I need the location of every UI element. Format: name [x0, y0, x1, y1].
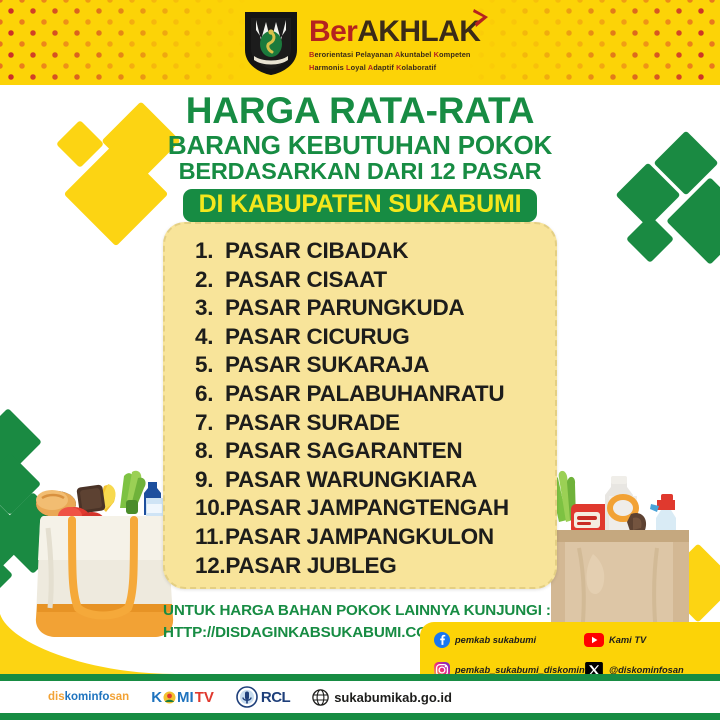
rcl-microphone-icon	[236, 686, 258, 708]
market-list-item-number: 5.	[195, 351, 225, 380]
poster-canvas: BerAKHLAK Berorientasi Pelayanan Akuntab…	[0, 0, 720, 720]
berakhlak-title: BerAKHLAK	[309, 17, 480, 47]
globe-icon	[312, 689, 329, 706]
market-list-item-name: PASAR SUKARAJA	[225, 351, 429, 380]
logo-ber: Ber	[309, 15, 357, 48]
market-list-item-name: PASAR SURADE	[225, 409, 400, 438]
market-list-item: 5.PASAR SUKARAJA	[195, 351, 555, 380]
market-list-item: 7.PASAR SURADE	[195, 409, 555, 438]
kamitv-logo-k: K	[151, 689, 162, 706]
title-block: HARGA RATA-RATA BARANG KEBUTUHAN POKOK B…	[0, 92, 720, 222]
market-list-item-number: 2.	[195, 266, 225, 295]
market-list-item-number: 7.	[195, 409, 225, 438]
market-list-item-number: 12.	[195, 552, 225, 581]
bottom-bar-stripe-top	[0, 674, 720, 681]
facebook-icon	[434, 632, 450, 648]
title-banner-regency: DI KABUPATEN SUKABUMI	[183, 189, 538, 222]
market-list-item-number: 3.	[195, 294, 225, 323]
market-list-item-name: PASAR CICURUG	[225, 323, 409, 352]
market-list-item: 12.PASAR JUBLEG	[195, 552, 555, 581]
market-list-item-number: 11.	[195, 523, 225, 552]
bottom-logo-bar: diskominfosan K MI TV	[0, 674, 720, 720]
market-list-item-number: 9.	[195, 466, 225, 495]
market-list-item-number: 1.	[195, 237, 225, 266]
market-list-item-name: PASAR PARUNGKUDA	[225, 294, 464, 323]
berakhlak-logo-group: BerAKHLAK Berorientasi Pelayanan Akuntab…	[242, 8, 492, 78]
social-facebook-label: pemkab sukabumi	[455, 635, 536, 645]
kamitv-logo-tv: TV	[195, 689, 214, 706]
market-list-item-name: PASAR CIBADAK	[225, 237, 408, 266]
title-line-1: HARGA RATA-RATA	[0, 92, 720, 130]
market-list-item-number: 10.	[195, 494, 225, 523]
title-line-3: BERDASARKAN DARI 12 PASAR	[0, 159, 720, 184]
diskominfosan-logo-kominfo: kominfo	[65, 691, 110, 703]
market-list-item-name: PASAR CISAAT	[225, 266, 387, 295]
market-list-item: 9.PASAR WARUNGKIARA	[195, 466, 555, 495]
market-list-item: 2.PASAR CISAAT	[195, 266, 555, 295]
market-list-item-number: 8.	[195, 437, 225, 466]
rcl-radio-logo: RCL	[236, 686, 290, 708]
tagline-segment: erorientasi Pelayanan	[314, 50, 394, 59]
swoosh-icon	[471, 8, 491, 28]
tagline-segment: olaboratif	[402, 63, 437, 72]
rcl-logo-text: RCL	[261, 689, 290, 706]
market-list-item: 8.PASAR SAGARANTEN	[195, 437, 555, 466]
market-list-item-name: PASAR JAMPANGTENGAH	[225, 494, 508, 523]
berakhlak-tagline-line1: Berorientasi Pelayanan Akuntabel Kompete…	[309, 50, 480, 60]
diskominfosan-logo: diskominfosan	[48, 691, 129, 703]
halftone-pattern-left	[0, 0, 250, 85]
market-list-item: 3.PASAR PARUNGKUDA	[195, 294, 555, 323]
berakhlak-tagline-line2: Harmonis Loyal Adaptif Kolaboratif	[309, 63, 480, 73]
logo-akhlak: AKHLAK	[357, 15, 480, 48]
sukabumi-emblem-icon	[242, 10, 300, 76]
kamitv-logo-mi: MI	[177, 689, 194, 706]
market-list-item-name: PASAR WARUNGKIARA	[225, 466, 477, 495]
market-list-item: 1.PASAR CIBADAK	[195, 237, 555, 266]
tagline-segment: oyal	[351, 63, 368, 72]
halftone-pattern-right	[470, 0, 720, 85]
tagline-segment: ompeten	[439, 50, 471, 59]
tagline-segment: daptif	[373, 63, 396, 72]
berakhlak-wordmark: BerAKHLAK Berorientasi Pelayanan Akuntab…	[309, 14, 480, 73]
social-youtube[interactable]: Kami TV	[584, 632, 646, 648]
social-media-panel: pemkab sukabumi Kami TV	[420, 622, 720, 680]
market-list-item: 6.PASAR PALABUHANRATU	[195, 380, 555, 409]
sukabumikab-website[interactable]: sukabumikab.go.id	[312, 689, 452, 706]
header-band: BerAKHLAK Berorientasi Pelayanan Akuntab…	[0, 0, 720, 85]
social-facebook[interactable]: pemkab sukabumi	[434, 632, 584, 648]
footer-note-line1: UNTUK HARGA BAHAN POKOK LAINNYA KUNJUNGI…	[163, 600, 583, 622]
sukabumikab-website-label: sukabumikab.go.id	[334, 690, 452, 705]
market-list-item: 11.PASAR JAMPANGKULON	[195, 523, 555, 552]
market-list-item-number: 4.	[195, 323, 225, 352]
social-youtube-label: Kami TV	[609, 635, 646, 645]
market-list-item: 10.PASAR JAMPANGTENGAH	[195, 494, 555, 523]
market-list: 1.PASAR CIBADAK2.PASAR CISAAT3.PASAR PAR…	[195, 237, 555, 580]
youtube-icon	[584, 632, 604, 648]
market-list-item-number: 6.	[195, 380, 225, 409]
bottom-bar-stripe-bottom	[0, 713, 720, 720]
diskominfosan-logo-dis: dis	[48, 691, 65, 703]
market-list-item-name: PASAR JUBLEG	[225, 552, 396, 581]
tagline-segment: armonis	[314, 63, 346, 72]
diskominfosan-logo-san: san	[109, 691, 129, 703]
kamitv-logo: K MI TV	[151, 689, 214, 706]
market-list-item-name: PASAR SAGARANTEN	[225, 437, 462, 466]
tagline-segment: kuntabel	[400, 50, 433, 59]
market-list-item-name: PASAR PALABUHANRATU	[225, 380, 504, 409]
market-list-item: 4.PASAR CICURUG	[195, 323, 555, 352]
title-line-2: BARANG KEBUTUHAN POKOK	[0, 131, 720, 159]
kamitv-star-icon	[163, 691, 176, 704]
market-list-card: 1.PASAR CIBADAK2.PASAR CISAAT3.PASAR PAR…	[163, 222, 557, 589]
market-list-item-name: PASAR JAMPANGKULON	[225, 523, 494, 552]
